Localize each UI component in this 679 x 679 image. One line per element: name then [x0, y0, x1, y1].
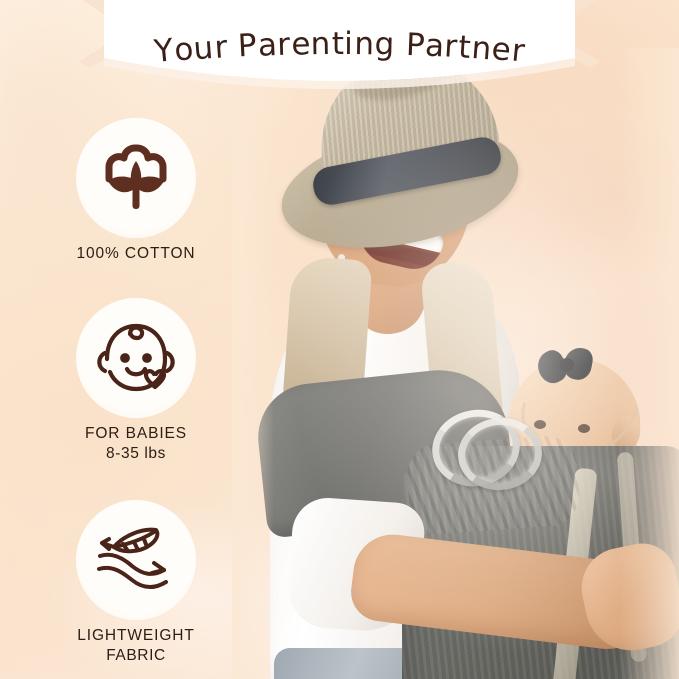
feature-babies-label-main: FOR BABIES [85, 425, 187, 442]
feature-lightweight-label-main: LIGHTWEIGHT [77, 627, 195, 644]
feature-babies-badge [76, 298, 196, 418]
baby-face-icon [91, 317, 181, 399]
feature-babies-label-sub: 8-35 lbs [62, 444, 210, 464]
feature-lightweight-label-sub: FABRIC [62, 646, 210, 666]
feature-cotton-label-main: 100% COTTON [76, 245, 195, 262]
feature-lightweight: LIGHTWEIGHT FABRIC [62, 500, 210, 667]
feature-lightweight-badge [76, 500, 196, 620]
feature-cotton-label: 100% COTTON [62, 244, 210, 264]
feature-babies-label: FOR BABIES 8-35 lbs [62, 424, 210, 465]
infographic-root: Your Parenting Partner 100% COTTON [0, 0, 679, 679]
feature-cotton: 100% COTTON [62, 118, 210, 264]
feather-fabric-icon [90, 520, 182, 600]
banner-title-text: Your Parenting Partner [156, 26, 523, 62]
feature-babies: FOR BABIES 8-35 lbs [62, 298, 210, 465]
product-photo [232, 48, 679, 679]
banner: Your Parenting Partner [0, 0, 679, 114]
banner-title: Your Parenting Partner [0, 26, 679, 62]
feature-lightweight-label: LIGHTWEIGHT FABRIC [62, 626, 210, 667]
feature-cotton-badge [76, 118, 196, 238]
cotton-boll-icon [93, 135, 179, 221]
